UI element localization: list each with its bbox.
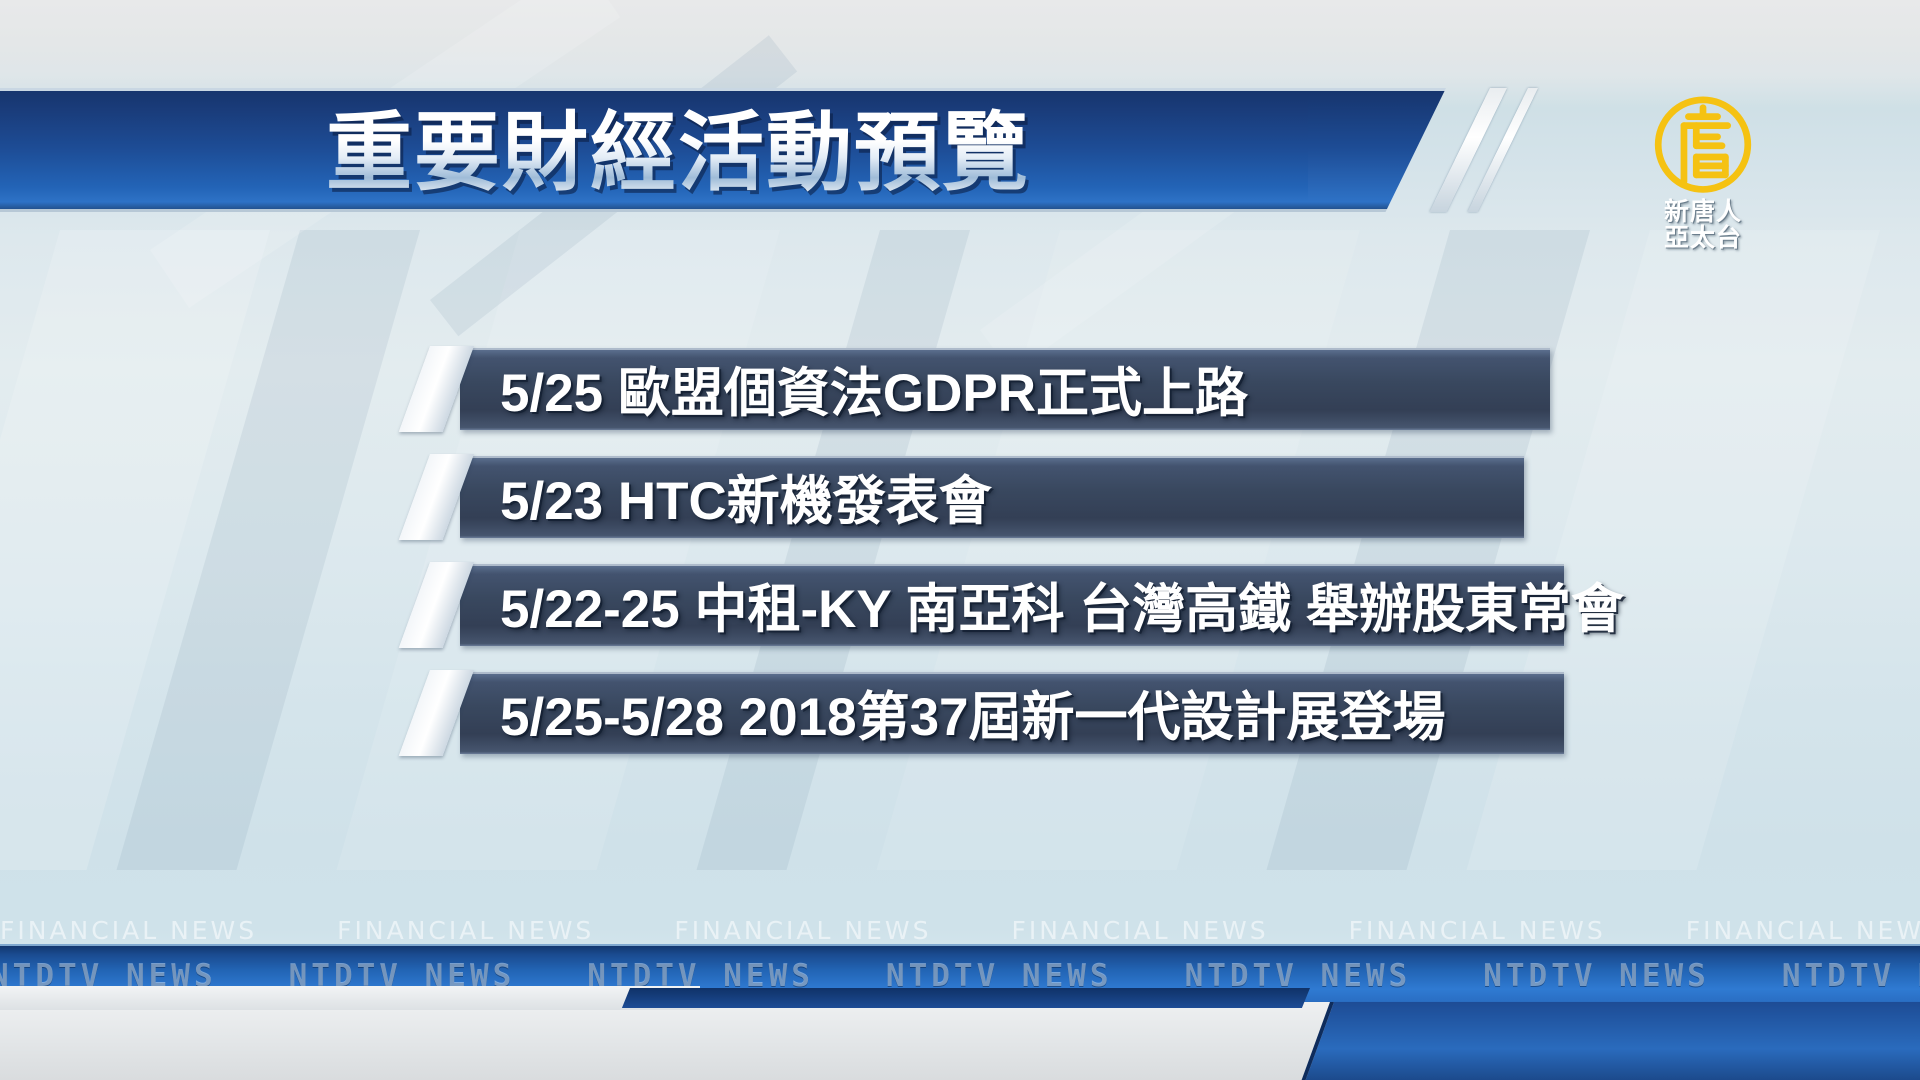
- list-item-label: 5/23 HTC新機發表會: [500, 456, 992, 538]
- financial-news-watermark: FINANCIAL NEWSFINANCIAL NEWSFINANCIAL NE…: [0, 912, 1920, 948]
- list-item: 5/25-5/28 2018第37屆新一代設計展登場: [430, 672, 1550, 754]
- watermark-text: FINANCIAL NEWS: [337, 916, 674, 945]
- broadcast-graphic-screen: 重要財經活動預覽 新唐人 亞太台: [0, 0, 1920, 1080]
- watermark-text: FINANCIAL NEWS: [674, 916, 1011, 945]
- list-item-label: 5/25 歐盟個資法GDPR正式上路: [500, 348, 1248, 430]
- watermark-text: FINANCIAL NEWS: [1686, 916, 1920, 945]
- lower-third-white-shelf: [0, 986, 700, 1010]
- list-item-label: 5/25-5/28 2018第37屆新一代設計展登場: [500, 672, 1446, 754]
- list-item: 5/25 歐盟個資法GDPR正式上路: [430, 348, 1550, 430]
- event-list: 5/25 歐盟個資法GDPR正式上路 5/23 HTC新機發表會 5/22-25…: [430, 348, 1550, 780]
- list-item-label: 5/22-25 中租-KY 南亞科 台灣高鐵 舉辦股東常會: [500, 564, 1624, 646]
- ticker-text: NTDTV NEWS: [1782, 958, 1920, 994]
- channel-name-line1: 新唐人: [1628, 200, 1778, 226]
- channel-name-line2: 亞太台: [1628, 226, 1778, 252]
- channel-name: 新唐人 亞太台: [1628, 200, 1778, 251]
- watermark-text: FINANCIAL NEWS: [1349, 916, 1686, 945]
- list-item: 5/23 HTC新機發表會: [430, 456, 1550, 538]
- lower-third-notch: [622, 988, 1310, 1008]
- ticker-text: NTDTV NEWS: [1483, 958, 1782, 994]
- page-title: 重要財經活動預覽: [0, 91, 1308, 215]
- watermark-text: FINANCIAL NEWS: [1011, 916, 1348, 945]
- lower-third-blue-wedge: [1302, 1002, 1920, 1080]
- watermark-text: FINANCIAL NEWS: [0, 916, 337, 945]
- channel-logo: 新唐人 亞太台: [1628, 92, 1778, 252]
- ntd-tang-circle-icon: [1647, 92, 1759, 204]
- list-item: 5/22-25 中租-KY 南亞科 台灣高鐵 舉辦股東常會: [430, 564, 1550, 646]
- title-bar: 重要財經活動預覽: [0, 88, 1308, 212]
